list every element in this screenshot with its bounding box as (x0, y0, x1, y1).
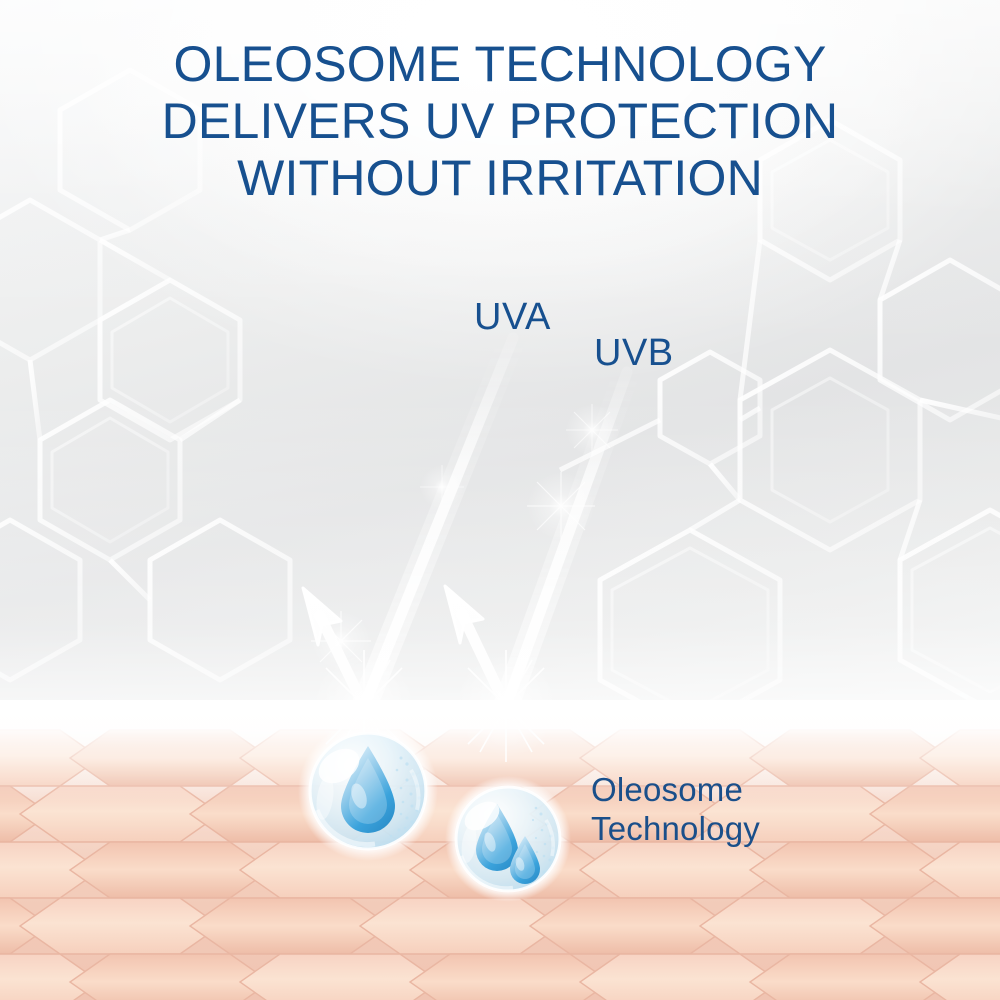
oleosome-label-line-2: Technology (591, 809, 760, 848)
oleosome-sphere-small (443, 774, 573, 904)
oleosome-sphere-large (295, 718, 441, 864)
oleosome-technology-label: Oleosome Technology (591, 770, 760, 848)
page-title-line-3: WITHOUT IRRITATION (0, 150, 1000, 207)
uva-label: UVA (474, 298, 551, 336)
page-title-line-1: OLEOSOME TECHNOLOGY (0, 36, 1000, 93)
uvb-label: UVB (594, 334, 674, 372)
skin-surface-highlight (0, 700, 1000, 720)
infographic-canvas: OLEOSOME TECHNOLOGY DELIVERS UV PROTECTI… (0, 0, 1000, 1000)
oleosome-label-line-1: Oleosome (591, 770, 760, 809)
page-title: OLEOSOME TECHNOLOGY DELIVERS UV PROTECTI… (0, 36, 1000, 207)
page-title-line-2: DELIVERS UV PROTECTION (0, 93, 1000, 150)
